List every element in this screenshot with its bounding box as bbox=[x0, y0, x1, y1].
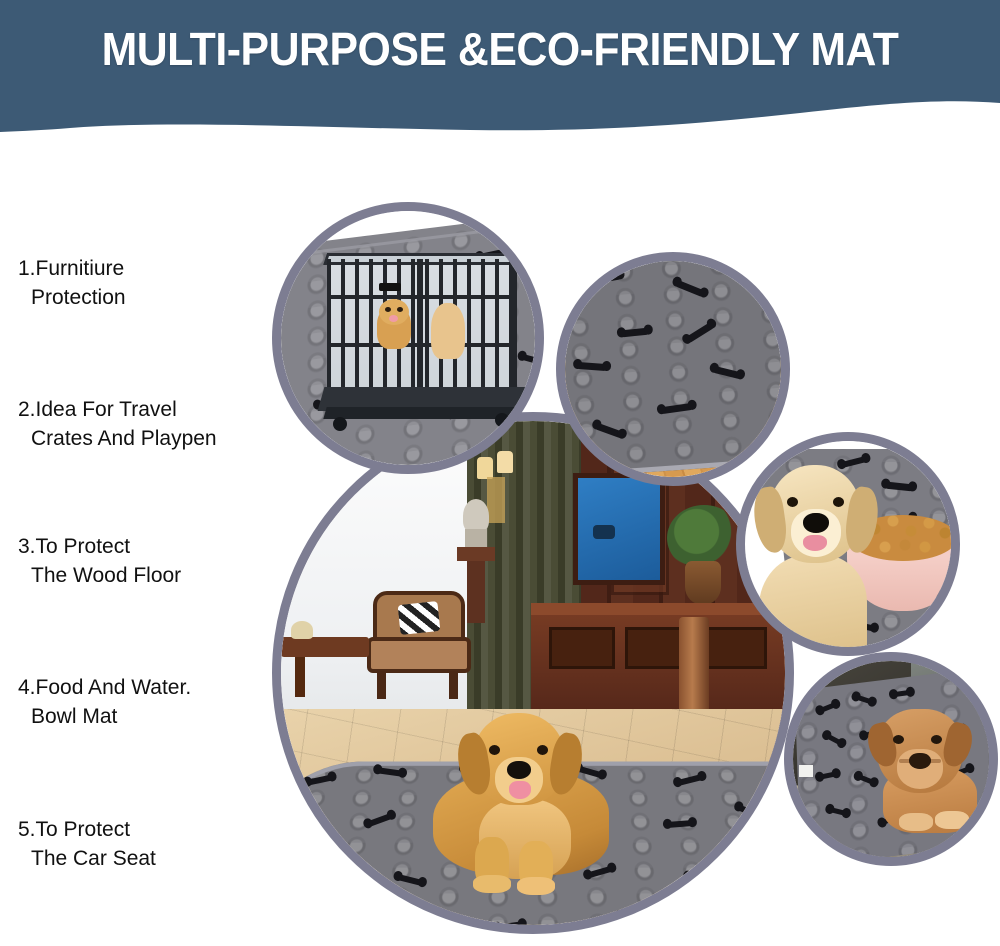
car-seat-photo-image bbox=[793, 661, 989, 857]
living-room-photo bbox=[272, 412, 794, 934]
food-bowl-photo bbox=[736, 432, 960, 656]
golden-retriever-dog bbox=[419, 713, 615, 883]
car-seat-photo bbox=[784, 652, 998, 866]
crate-photo bbox=[272, 202, 544, 474]
bordeaux-puppy bbox=[869, 709, 979, 831]
photo-collage bbox=[0, 0, 1000, 946]
golden-retriever-head bbox=[755, 459, 875, 647]
infographic-page: MULTI-PURPOSE &ECO-FRIENDLY MAT 1.Furnit… bbox=[0, 0, 1000, 946]
crate-photo-image bbox=[281, 211, 535, 465]
food-bowl-photo-image bbox=[745, 441, 951, 647]
living-room-photo-image bbox=[281, 421, 785, 925]
